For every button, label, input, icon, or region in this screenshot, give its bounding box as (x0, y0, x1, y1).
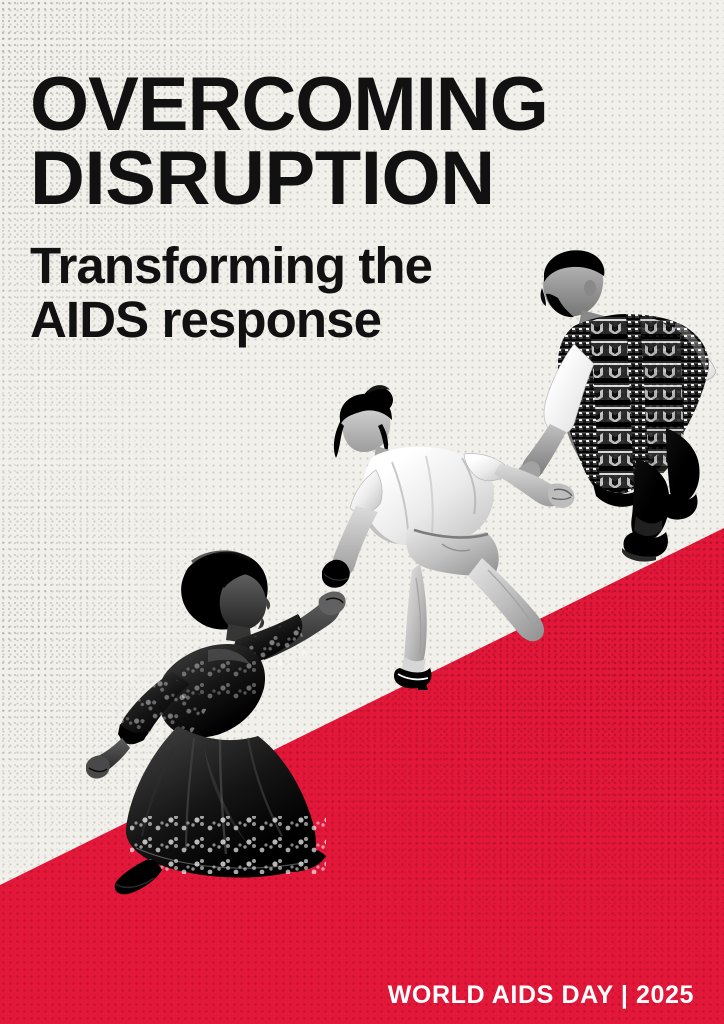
world-aids-day-label: WORLD AIDS DAY | 2025 (388, 981, 694, 1010)
poster-headline-block: OVERCOMING DISRUPTION Transforming the A… (30, 68, 548, 347)
poster-subheadline-block: Transforming the AIDS response (30, 239, 548, 347)
headline-line-1: OVERCOMING (30, 68, 548, 142)
world-aids-day-poster: OVERCOMING DISRUPTION Transforming the A… (0, 0, 724, 1024)
headline-line-2: DISRUPTION (30, 142, 548, 216)
subheadline-line-1: Transforming the (30, 239, 548, 293)
footer-banner: WORLD AIDS DAY | 2025 (0, 966, 724, 1024)
subheadline-line-2: AIDS response (30, 293, 548, 347)
